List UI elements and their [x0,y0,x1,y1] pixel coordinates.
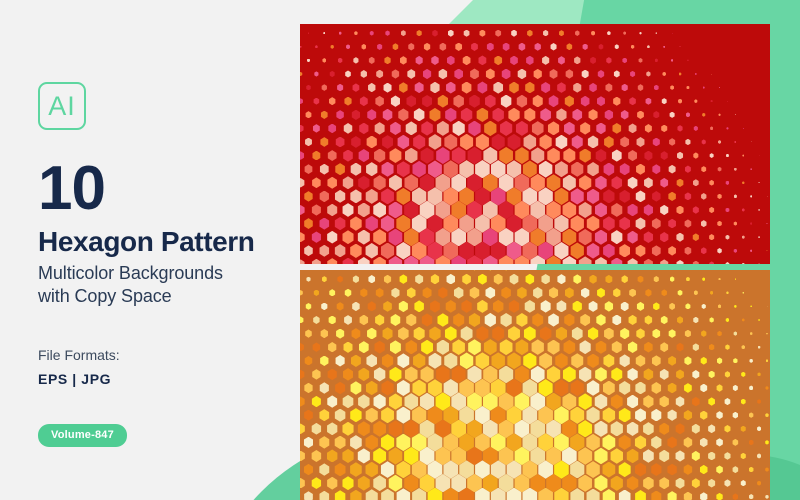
item-count: 10 [38,160,288,219]
file-formats-label: File Formats: [38,345,288,366]
info-panel: AI 10 Hexagon Pattern Multicolor Backgro… [38,82,288,447]
page-title: Hexagon Pattern [38,227,288,256]
subtitle-line-one: Multicolor Backgrounds [38,262,288,285]
hexagon-pattern-red [300,24,770,264]
ai-format-badge: AI [38,82,86,130]
subtitle-line-two: with Copy Space [38,285,288,308]
hexagon-pattern-orange [300,270,770,500]
file-formats-block: File Formats: EPS | JPG [38,345,288,390]
orange-hexagon-preview [300,270,770,500]
red-hexagon-preview [300,24,770,264]
poster-canvas: AI 10 Hexagon Pattern Multicolor Backgro… [0,0,800,500]
file-formats-value: EPS | JPG [38,369,288,390]
volume-badge: Volume-847 [38,424,127,447]
ai-badge-label: AI [48,93,76,120]
